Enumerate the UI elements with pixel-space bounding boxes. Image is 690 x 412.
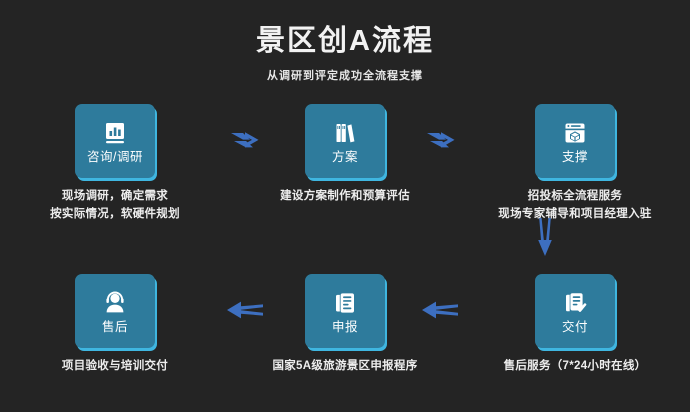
step-card-4[interactable]: 售后 项目验收与培训交付 xyxy=(0,274,230,394)
step-3-label: 支撑 xyxy=(562,151,588,164)
step-5-tile[interactable]: 申报 xyxy=(305,274,385,348)
header: 景区创A流程 从调研到评定成功全流程支撑 xyxy=(0,26,690,83)
flow-diagram: 景区创A流程 从调研到评定成功全流程支撑 咨询/调研 现场调研，确定需求 按实际… xyxy=(0,0,690,412)
step-4-caption: 项目验收与培训交付 xyxy=(62,358,168,376)
document-check-icon xyxy=(561,289,589,317)
step-card-3[interactable]: 支撑 招投标全流程服务 现场专家辅导和项目经理入驻 xyxy=(460,104,690,224)
step-6-label: 交付 xyxy=(562,321,588,334)
window-cube-icon xyxy=(561,119,589,147)
step-card-1[interactable]: 咨询/调研 现场调研，确定需求 按实际情况，软硬件规划 xyxy=(0,104,230,224)
step-card-2[interactable]: 方案 建设方案制作和预算评估 xyxy=(230,104,460,224)
step-3-caption: 招投标全流程服务 现场专家辅导和项目经理入驻 xyxy=(498,188,651,224)
books-icon xyxy=(331,119,359,147)
step-2-label: 方案 xyxy=(332,151,358,164)
step-1-label: 咨询/调研 xyxy=(87,151,143,164)
page-subtitle: 从调研到评定成功全流程支撑 xyxy=(0,67,690,83)
step-6-tile[interactable]: 交付 xyxy=(535,274,615,348)
step-5-label: 申报 xyxy=(332,321,358,334)
document-lines-icon xyxy=(331,289,359,317)
step-card-5[interactable]: 申报 国家5A级旅游景区申报程序 xyxy=(230,274,460,394)
step-1-caption: 现场调研，确定需求 按实际情况，软硬件规划 xyxy=(50,188,180,224)
flow-row-top: 咨询/调研 现场调研，确定需求 按实际情况，软硬件规划 方案 xyxy=(0,104,690,224)
page-title: 景区创A流程 xyxy=(0,26,690,58)
step-card-6[interactable]: 交付 售后服务（7*24小时在线） xyxy=(460,274,690,394)
support-headset-icon xyxy=(101,289,129,317)
step-2-caption: 建设方案制作和预算评估 xyxy=(280,188,410,206)
step-6-caption: 售后服务（7*24小时在线） xyxy=(504,358,647,376)
step-2-tile[interactable]: 方案 xyxy=(305,104,385,178)
step-4-label: 售后 xyxy=(102,321,128,334)
bar-chart-icon xyxy=(101,119,129,147)
flow-row-bottom: 售后 项目验收与培训交付 申报 国家5A级旅游景区申报程序 xyxy=(0,274,690,394)
step-1-tile[interactable]: 咨询/调研 xyxy=(75,104,155,178)
step-3-tile[interactable]: 支撑 xyxy=(535,104,615,178)
step-4-tile[interactable]: 售后 xyxy=(75,274,155,348)
step-5-caption: 国家5A级旅游景区申报程序 xyxy=(272,358,417,376)
